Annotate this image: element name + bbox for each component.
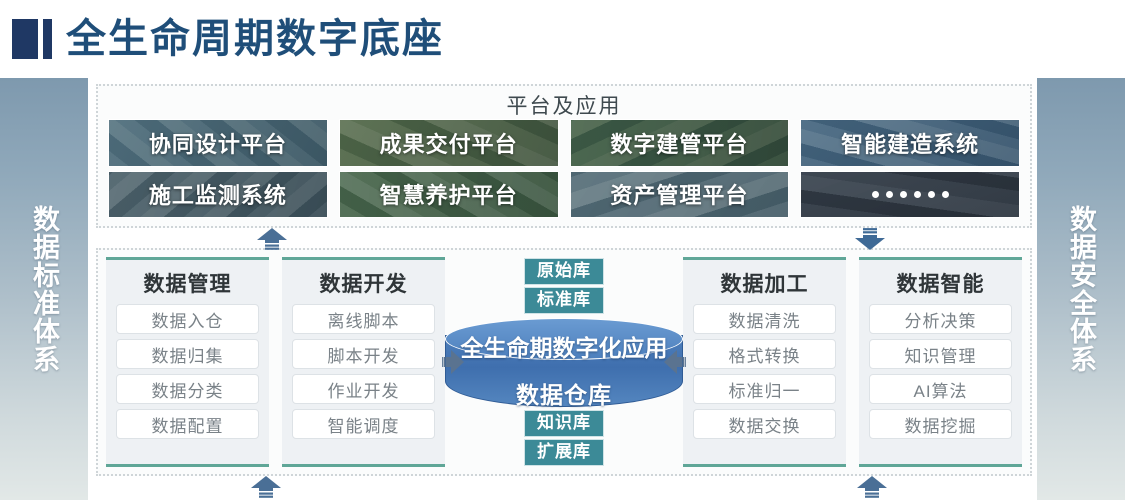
data-column-title: 数据开发 xyxy=(292,268,435,298)
page-title: 全生命周期数字底座 xyxy=(66,17,444,61)
data-column-item[interactable]: 数据配置 xyxy=(116,409,259,439)
data-column-item[interactable]: 知识管理 xyxy=(869,339,1012,369)
arrow-center-in-left xyxy=(442,349,464,375)
data-column-item[interactable]: 标准归一 xyxy=(693,374,836,404)
platform-panel-title: 平台及应用 xyxy=(98,90,1030,120)
data-column-item[interactable]: 数据清洗 xyxy=(693,304,836,334)
platform-panel: 平台及应用 协同设计平台 施工监测系统 成果交付平台 xyxy=(96,84,1032,228)
arrow-platform-from-data-left xyxy=(256,228,288,250)
data-column-item[interactable]: AI算法 xyxy=(869,374,1012,404)
data-column-item[interactable]: 数据挖掘 xyxy=(869,409,1012,439)
platform-tile-label: 智能建造系统 xyxy=(841,127,979,159)
right-band-label: 数据安全体系 xyxy=(1063,205,1099,373)
badge-standard-library[interactable]: 标准库 xyxy=(524,287,604,314)
slide-root: 全生命周期数字底座 数据标准体系 数据安全体系 平台及应用 协同设计平台 xyxy=(0,0,1125,500)
data-column-card-processing[interactable]: 数据加工 数据清洗 格式转换 标准归一 数据交换 xyxy=(683,257,846,467)
platform-tile[interactable]: 协同设计平台 xyxy=(108,119,328,167)
data-column-item[interactable]: 格式转换 xyxy=(693,339,836,369)
data-column-title: 数据加工 xyxy=(693,268,836,298)
data-warehouse-center: 原始库 标准库 全生命期数字化应用 数据仓库 xyxy=(445,257,683,467)
data-warehouse-cylinder[interactable]: 全生命期数字化应用 数据仓库 xyxy=(445,318,683,406)
diagram-canvas: 数据标准体系 数据安全体系 平台及应用 协同设计平台 施工监测系统 xyxy=(0,78,1125,500)
platform-tile[interactable]: 智慧养护平台 xyxy=(339,171,559,219)
data-column-card-management[interactable]: 数据管理 数据入仓 数据归集 数据分类 数据配置 xyxy=(106,257,269,467)
ellipsis-icon xyxy=(872,191,949,198)
platform-tile-column: 智能建造系统 xyxy=(800,119,1020,218)
data-column-items: 分析决策 知识管理 AI算法 数据挖掘 xyxy=(869,304,1012,439)
data-column-title: 数据智能 xyxy=(869,268,1012,298)
data-column-item[interactable]: 作业开发 xyxy=(292,374,435,404)
left-band-label: 数据标准体系 xyxy=(26,205,62,373)
cylinder-top-label: 全生命期数字化应用 xyxy=(445,329,683,363)
data-column-item[interactable]: 数据分类 xyxy=(116,374,259,404)
data-column-item[interactable]: 脚本开发 xyxy=(292,339,435,369)
data-capability-panel: 数据管理 数据入仓 数据归集 数据分类 数据配置 数据开发 离线脚本 脚本开发 … xyxy=(96,248,1032,476)
platform-tile-label: 施工监测系统 xyxy=(149,178,287,210)
data-column-items: 数据入仓 数据归集 数据分类 数据配置 xyxy=(116,304,259,439)
data-column-item[interactable]: 分析决策 xyxy=(869,304,1012,334)
platform-tile-more[interactable] xyxy=(800,171,1020,219)
platform-tile[interactable]: 数字建管平台 xyxy=(570,119,790,167)
badge-knowledge-library[interactable]: 知识库 xyxy=(524,410,604,437)
platform-tile-label: 资产管理平台 xyxy=(610,178,748,210)
platform-tile[interactable]: 智能建造系统 xyxy=(800,119,1020,167)
platform-tile[interactable]: 施工监测系统 xyxy=(108,171,328,219)
data-column-item[interactable]: 离线脚本 xyxy=(292,304,435,334)
column-divider xyxy=(269,257,282,467)
platform-tile-label: 协同设计平台 xyxy=(149,127,287,159)
data-column-item[interactable]: 智能调度 xyxy=(292,409,435,439)
sidebar-item-data-standard-system[interactable]: 数据标准体系 xyxy=(0,78,88,500)
arrow-platform-to-data-right xyxy=(854,228,886,250)
data-column-item[interactable]: 数据入仓 xyxy=(116,304,259,334)
data-column-item[interactable]: 数据归集 xyxy=(116,339,259,369)
platform-tile-column: 数字建管平台 资产管理平台 xyxy=(570,119,790,218)
data-column-card-intelligence[interactable]: 数据智能 分析决策 知识管理 AI算法 数据挖掘 xyxy=(859,257,1022,467)
platform-tile-label: 智慧养护平台 xyxy=(380,178,518,210)
platform-tile-column: 协同设计平台 施工监测系统 xyxy=(108,119,328,218)
platform-tile-column: 成果交付平台 智慧养护平台 xyxy=(339,119,559,218)
data-column-title: 数据管理 xyxy=(116,268,259,298)
badge-raw-library[interactable]: 原始库 xyxy=(524,258,604,285)
badge-extension-library[interactable]: 扩展库 xyxy=(524,439,604,466)
platform-tile-grid: 协同设计平台 施工监测系统 成果交付平台 智慧养护平台 xyxy=(108,119,1020,218)
platform-tile[interactable]: 资产管理平台 xyxy=(570,171,790,219)
platform-tile[interactable]: 成果交付平台 xyxy=(339,119,559,167)
data-column-card-development[interactable]: 数据开发 离线脚本 脚本开发 作业开发 智能调度 xyxy=(282,257,445,467)
sidebar-item-data-security-system[interactable]: 数据安全体系 xyxy=(1037,78,1125,500)
arrow-data-from-source-left xyxy=(250,476,282,498)
arrow-data-from-source-right xyxy=(856,476,888,498)
platform-tile-label: 数字建管平台 xyxy=(610,127,748,159)
cylinder-body-label: 数据仓库 xyxy=(445,376,683,410)
arrow-center-in-right xyxy=(664,349,686,375)
column-divider xyxy=(846,257,859,467)
platform-tile-label: 成果交付平台 xyxy=(380,127,518,159)
title-mark-icon xyxy=(12,19,52,59)
data-column-items: 离线脚本 脚本开发 作业开发 智能调度 xyxy=(292,304,435,439)
data-capability-row: 数据管理 数据入仓 数据归集 数据分类 数据配置 数据开发 离线脚本 脚本开发 … xyxy=(106,257,1022,467)
data-column-items: 数据清洗 格式转换 标准归一 数据交换 xyxy=(693,304,836,439)
page-title-bar: 全生命周期数字底座 xyxy=(0,0,1125,78)
data-column-item[interactable]: 数据交换 xyxy=(693,409,836,439)
